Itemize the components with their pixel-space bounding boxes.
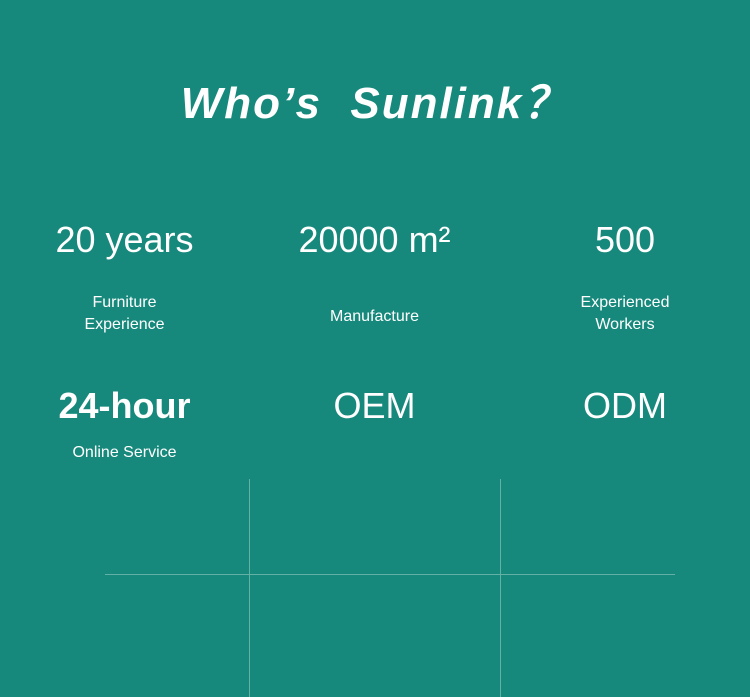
stat-cell-odm: ODM — [500, 378, 750, 514]
stat-value-workers: 500 — [595, 220, 655, 260]
stat-label-workers: Experienced Workers — [581, 292, 670, 337]
stat-cell-workers: 500 Experienced Workers — [500, 196, 750, 378]
stat-value-odm: ODM — [583, 386, 667, 426]
page-title: Who’s Sunlink？ — [0, 79, 750, 130]
stat-label-hours: Online Service — [72, 442, 176, 464]
stat-cell-years: 20 years Furniture Experience — [0, 196, 249, 378]
stat-cell-oem: OEM — [249, 378, 500, 514]
divider-vertical-left — [249, 479, 250, 697]
divider-horizontal — [105, 574, 675, 575]
stat-cell-hours: 24-hour Online Service — [0, 378, 249, 514]
stat-label-years: Furniture Experience — [84, 292, 164, 337]
stats-row-bottom: 24-hour Online Service OEM ODM — [0, 378, 750, 514]
stat-value-years: 20 years — [55, 220, 193, 260]
who-is-sunlink-banner: Who’s Sunlink？ 20 years Furniture Experi… — [0, 0, 750, 514]
stat-cell-area: 20000 m² Manufacture — [249, 196, 500, 378]
stat-value-area: 20000 m² — [298, 220, 450, 260]
stats-grid: 20 years Furniture Experience 20000 m² M… — [0, 196, 750, 514]
stats-row-top: 20 years Furniture Experience 20000 m² M… — [0, 196, 750, 378]
stat-value-oem: OEM — [333, 386, 415, 426]
divider-vertical-right — [500, 479, 501, 697]
stat-value-hours: 24-hour — [58, 386, 190, 426]
stat-label-area: Manufacture — [330, 306, 419, 328]
